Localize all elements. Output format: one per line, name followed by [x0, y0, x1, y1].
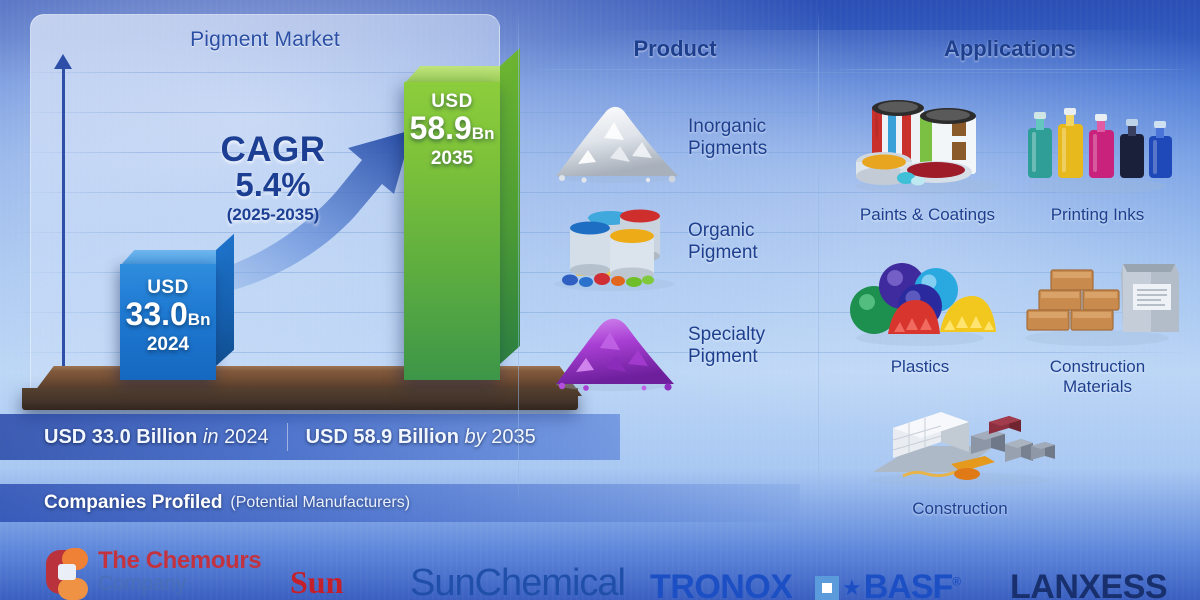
white-pigment-powder-icon — [548, 92, 688, 184]
product-label-specialty-l2: Pigment — [688, 346, 765, 368]
purple-pigment-powder-icon — [548, 300, 688, 392]
applications-heading-rule — [830, 69, 1190, 70]
gridline — [8, 72, 1194, 73]
bar-2035-label: USD 58.9Bn 2035 — [404, 92, 500, 168]
application-label-inks: Printing Inks — [1010, 205, 1185, 225]
application-item-paints[interactable]: Paints & Coatings — [840, 86, 1015, 225]
application-label-construction-materials-l2: Materials — [1005, 377, 1190, 397]
platform-edge — [22, 388, 578, 410]
value-summary-2035: USD 58.9 Billion by 2035 — [306, 426, 536, 449]
chemours-line2: Company — [98, 573, 261, 595]
basf-text: BASF — [864, 568, 953, 600]
ink-bottles-icon — [1010, 86, 1185, 196]
companies-subtitle: (Potential Manufacturers) — [230, 494, 410, 512]
paint-buckets-icon — [840, 86, 1015, 196]
application-item-plastics[interactable]: Plastics — [840, 248, 1000, 377]
bar-2035-value: 58.9 — [410, 110, 472, 146]
bar-2024-currency: USD — [120, 278, 216, 298]
application-item-construction[interactable]: Construction — [845, 400, 1075, 519]
value-2024-amount: USD 33.0 Billion — [44, 426, 197, 448]
product-label-organic-l2: Pigment — [688, 242, 758, 264]
value-2024-connector: in — [203, 426, 219, 448]
product-item-specialty[interactable]: Specialty Pigment — [548, 300, 816, 392]
logo-sun[interactable]: Sun — [290, 564, 343, 600]
companies-profiled-band: Companies Profiled (Potential Manufactur… — [0, 484, 800, 522]
application-item-inks[interactable]: Printing Inks — [1010, 86, 1185, 225]
product-label-inorganic-l2: Pigments — [688, 138, 767, 160]
chart-title: Pigment Market — [30, 28, 500, 52]
bar-2035-unit: Bn — [472, 124, 495, 143]
cagr-callout: CAGR 5.4% (2025-2035) — [178, 132, 368, 225]
applications-column-heading: Applications — [830, 36, 1190, 62]
value-2024-year: 2024 — [224, 426, 269, 448]
application-label-construction: Construction — [845, 499, 1075, 519]
product-item-inorganic[interactable]: Inorganic Pigments — [548, 92, 816, 184]
bar-2024-value-row: 33.0Bn — [120, 298, 216, 332]
companies-title: Companies Profiled — [44, 492, 222, 514]
application-label-plastics: Plastics — [840, 357, 1000, 377]
bar-2024-value: 33.0 — [126, 296, 188, 332]
logo-sunchemical[interactable]: SunChemical — [410, 562, 625, 600]
application-label-plastics-l1: Plastics — [840, 357, 1000, 377]
chemours-wordmark: The Chemours Company — [98, 549, 261, 595]
application-label-inks-l1: Printing Inks — [1010, 205, 1185, 225]
bar-2035-year: 2035 — [404, 149, 500, 169]
chemours-line1: The Chemours — [98, 549, 261, 573]
product-heading-rule — [530, 69, 815, 70]
basf-wordmark: BASF® — [864, 568, 960, 600]
bar-2024-year: 2024 — [120, 335, 216, 355]
basf-square-icon — [815, 576, 839, 600]
product-label-specialty-l1: Specialty — [688, 324, 765, 346]
infographic-canvas: Pigment Market CAGR 5.4% (2025-2035) USD… — [0, 0, 1200, 600]
cagr-value: 5.4% — [178, 167, 368, 204]
application-label-construction-l1: Construction — [845, 499, 1075, 519]
column-divider-left — [518, 10, 519, 510]
plastic-pellets-icon — [840, 248, 1000, 348]
logo-chemours[interactable]: The Chemours Company — [46, 548, 261, 596]
application-label-paints: Paints & Coatings — [840, 205, 1015, 225]
value-2035-year: 2035 — [491, 426, 536, 448]
application-label-paints-l1: Paints & Coatings — [840, 205, 1015, 225]
company-logos-row: The Chemours Company Sun SunChemical TRO… — [0, 540, 1200, 600]
basf-registered-mark: ® — [952, 575, 960, 589]
product-column-heading: Product — [530, 36, 820, 62]
cagr-period: (2025-2035) — [178, 205, 368, 225]
logo-tronox[interactable]: TRONOX — [650, 568, 792, 600]
bar-2024-label: USD 33.0Bn 2024 — [120, 278, 216, 354]
chemours-mark-icon — [46, 548, 90, 596]
bar-2035-side-face — [500, 48, 520, 364]
construction-blocks-icon — [845, 400, 1075, 490]
value-summary-2024: USD 33.0 Billion in 2024 — [44, 426, 269, 449]
product-label-inorganic: Inorganic Pigments — [688, 116, 767, 161]
bar-2035-value-row: 58.9Bn — [404, 112, 500, 146]
value-2035-connector: by — [465, 426, 486, 448]
bar-2024-side-face — [216, 234, 234, 366]
paint-cans-icon — [548, 192, 688, 292]
y-axis-line — [62, 62, 65, 392]
logo-basf[interactable]: ★ BASF® — [815, 568, 960, 600]
application-item-construction-materials[interactable]: Construction Materials — [1005, 248, 1190, 398]
application-label-construction-materials-l1: Construction — [1005, 357, 1190, 377]
column-divider-right — [818, 10, 819, 510]
bricks-and-cement-bag-icon — [1005, 248, 1190, 348]
product-label-organic-l1: Organic — [688, 220, 758, 242]
bar-2024-unit: Bn — [188, 310, 211, 329]
value-summary-band: USD 33.0 Billion in 2024 USD 58.9 Billio… — [0, 414, 620, 460]
product-label-inorganic-l1: Inorganic — [688, 116, 767, 138]
product-item-organic[interactable]: Organic Pigment — [548, 192, 816, 292]
application-label-construction-materials: Construction Materials — [1005, 357, 1190, 398]
bar-2035-currency: USD — [404, 92, 500, 112]
product-label-specialty: Specialty Pigment — [688, 324, 765, 369]
cagr-label: CAGR — [178, 132, 368, 167]
logo-lanxess[interactable]: LANXESS — [1010, 568, 1167, 600]
value-band-divider — [287, 423, 288, 451]
basf-star-icon: ★ — [842, 575, 862, 600]
value-2035-amount: USD 58.9 Billion — [306, 426, 459, 448]
product-label-organic: Organic Pigment — [688, 220, 758, 265]
